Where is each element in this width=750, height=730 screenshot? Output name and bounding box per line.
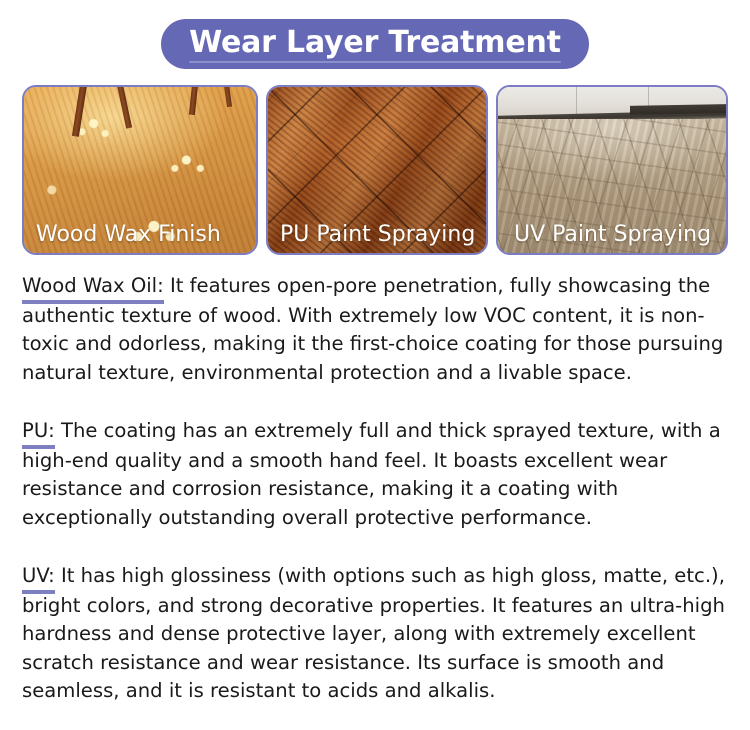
- table-leg-icon: [224, 85, 232, 107]
- panel-caption: Wood Wax Finish: [36, 222, 221, 248]
- treatment-panel-wood-wax[interactable]: Wood Wax Finish: [22, 85, 258, 255]
- baseboard-right: [630, 104, 726, 115]
- term-label-wood-wax-oil: Wood Wax Oil:: [22, 272, 164, 302]
- treatment-panel-uv-paint[interactable]: UV Paint Spraying: [496, 85, 728, 255]
- wall-seam: [576, 87, 577, 117]
- paragraph-text: It has high glossiness (with options suc…: [22, 564, 725, 702]
- paragraph-text: The coating has an extremely full and th…: [22, 419, 721, 529]
- page-title: Wear Layer Treatment: [189, 28, 561, 61]
- table-leg-icon: [117, 85, 132, 129]
- paragraph-pu: PU: The coating has an extremely full an…: [22, 417, 728, 532]
- term-label-uv: UV:: [22, 562, 55, 592]
- panel-caption: PU Paint Spraying: [280, 222, 475, 248]
- table-leg-icon: [189, 85, 198, 115]
- title-banner: Wear Layer Treatment: [161, 19, 589, 69]
- banner-sheen-line: [189, 61, 561, 63]
- term-label-pu: PU:: [22, 417, 55, 447]
- description-body: Wood Wax Oil: It features open-pore pene…: [22, 272, 728, 706]
- table-leg-icon: [72, 85, 87, 137]
- paragraph-uv: UV: It has high glossiness (with options…: [22, 562, 728, 706]
- term-text: Wood Wax Oil:: [22, 274, 164, 297]
- treatment-image-gallery: Wood Wax Finish PU Paint Spraying UV Pai…: [22, 85, 728, 255]
- treatment-panel-pu-paint[interactable]: PU Paint Spraying: [266, 85, 488, 255]
- panel-caption: UV Paint Spraying: [514, 222, 711, 248]
- paragraph-wood-wax-oil: Wood Wax Oil: It features open-pore pene…: [22, 272, 728, 387]
- term-text: PU:: [22, 419, 55, 442]
- title-banner-container: Wear Layer Treatment: [0, 19, 750, 69]
- term-text: UV:: [22, 564, 55, 587]
